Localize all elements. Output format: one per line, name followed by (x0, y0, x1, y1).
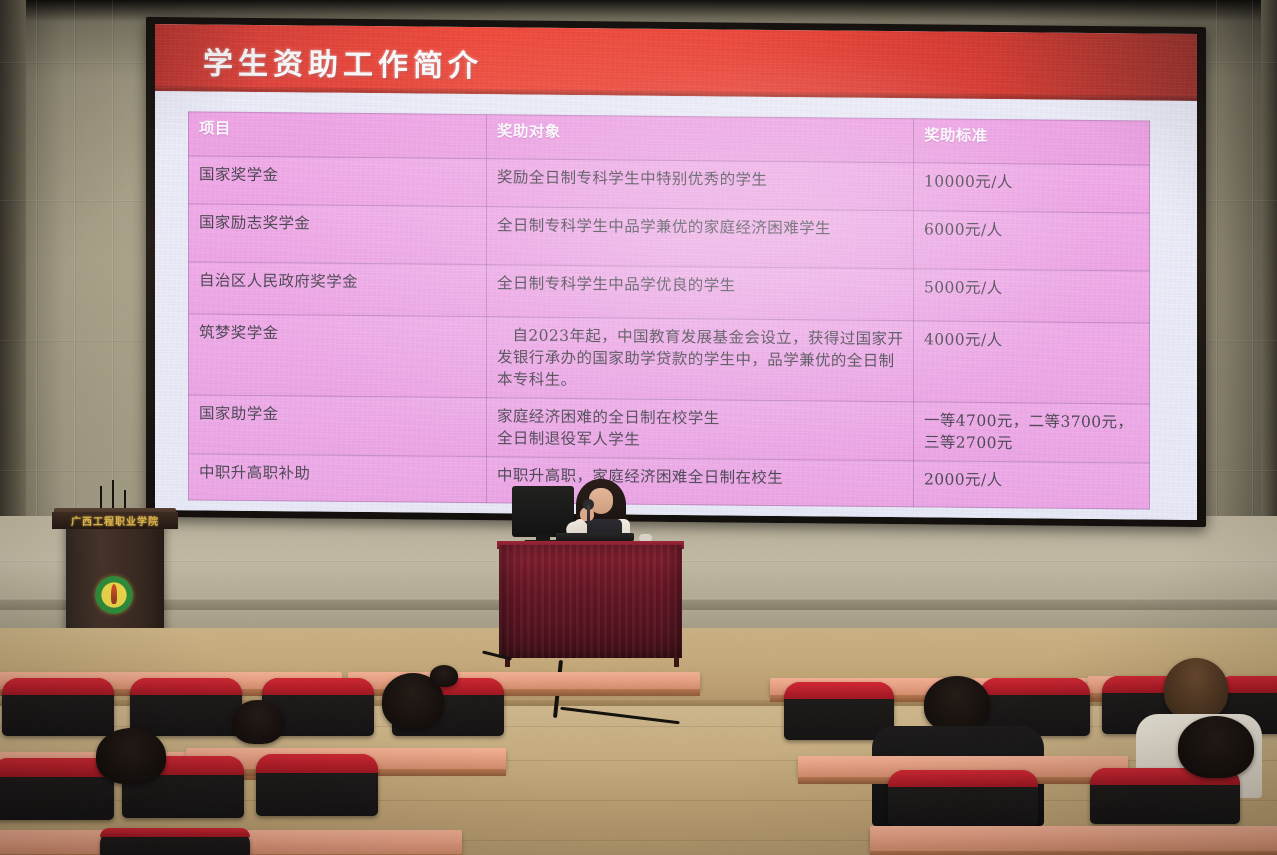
header-target: 奖助对象 (487, 115, 914, 163)
desk-leg (674, 657, 679, 667)
presenter-monitor (512, 486, 574, 537)
cell-standard: 5000元/人 (914, 269, 1150, 323)
header-standard: 奖助标准 (914, 119, 1150, 165)
presenter-desk-cloth (499, 545, 682, 658)
seat-backrest (130, 678, 242, 695)
projection-screen: 学生资助工作简介 项目 奖助对象 奖助标准 (155, 24, 1197, 520)
cell-target: 奖励全日制专科学生中特别优秀的学生 (487, 159, 914, 211)
seat-backrest (784, 682, 894, 699)
cell-item: 国家奖学金 (189, 156, 487, 207)
school-name-text: 广西工程职业学院 (71, 513, 159, 528)
lecture-hall-photo: 学生资助工作简介 项目 奖助对象 奖助标准 (0, 0, 1277, 855)
audience-seat (2, 678, 114, 736)
lectern-nameplate: 广西工程职业学院 (52, 512, 178, 529)
table-row: 自治区人民政府奖学金 全日制专科学生中品学优良的学生 5000元/人 (189, 262, 1150, 323)
slide-title-banner: 学生资助工作简介 (155, 24, 1197, 101)
slide-title: 学生资助工作简介 (203, 38, 483, 85)
audience-desk (870, 826, 1277, 852)
cell-item: 中职升高职补助 (189, 454, 487, 503)
cell-target: 全日制专科学生中品学兼优的家庭经济困难学生 (487, 207, 914, 269)
audience-head (924, 676, 990, 732)
audience-seat (888, 770, 1038, 826)
audience-seat (256, 754, 378, 816)
cell-target: 自2023年起，中国教育发展基金会设立，获得过国家开发银行承办的国家助学贷款的学… (487, 317, 914, 402)
keyboard (556, 533, 634, 541)
seat-backrest (100, 828, 250, 837)
cell-item: 国家励志奖学金 (189, 204, 487, 265)
header-item: 项目 (189, 112, 487, 159)
table-row: 中职升高职补助 中职升高职，家庭经济困难全日制在校生 2000元/人 (189, 454, 1150, 509)
audience-head (1164, 658, 1228, 720)
audience-head (96, 728, 166, 784)
audience-head (232, 700, 284, 744)
audience-head (1178, 716, 1254, 778)
seat-backrest (2, 678, 114, 695)
cell-target: 全日制专科学生中品学优良的学生 (487, 265, 914, 321)
table-row: 国家励志奖学金 全日制专科学生中品学兼优的家庭经济困难学生 6000元/人 (189, 204, 1150, 271)
school-emblem-icon (95, 576, 133, 614)
audience-seat (784, 682, 894, 740)
cell-target: 家庭经济困难的全日制在校学生 全日制退役军人学生 (487, 398, 914, 461)
cell-item: 筑梦奖学金 (189, 314, 487, 398)
seat-backrest (980, 678, 1090, 695)
cell-standard: 2000元/人 (914, 461, 1150, 509)
cell-item: 国家助学金 (189, 395, 487, 457)
table-row: 国家助学金 家庭经济困难的全日制在校学生 全日制退役军人学生 一等4700元，二… (189, 395, 1150, 463)
audience-seat (100, 828, 250, 855)
seat-backrest (262, 678, 374, 695)
cell-standard: 6000元/人 (914, 211, 1150, 271)
cell-standard: 4000元/人 (914, 321, 1150, 404)
cell-item: 自治区人民政府奖学金 (189, 262, 487, 317)
audience-head (430, 665, 458, 687)
slide-body: 项目 奖助对象 奖助标准 国家奖学金 奖励全日制专科学生中特别优秀的学生 100… (155, 91, 1197, 520)
cell-standard: 一等4700元，二等3700元，三等2700元 (914, 402, 1150, 463)
seat-backrest (256, 754, 378, 773)
audience-seat (130, 678, 242, 736)
financial-aid-table: 项目 奖助对象 奖助标准 国家奖学金 奖励全日制专科学生中特别优秀的学生 100… (188, 111, 1150, 509)
projection-screen-frame: 学生资助工作简介 项目 奖助对象 奖助标准 (146, 17, 1206, 527)
seat-backrest (888, 770, 1038, 787)
table-row: 筑梦奖学金 自2023年起，中国教育发展基金会设立，获得过国家开发银行承办的国家… (189, 314, 1150, 404)
cell-standard: 10000元/人 (914, 163, 1150, 213)
